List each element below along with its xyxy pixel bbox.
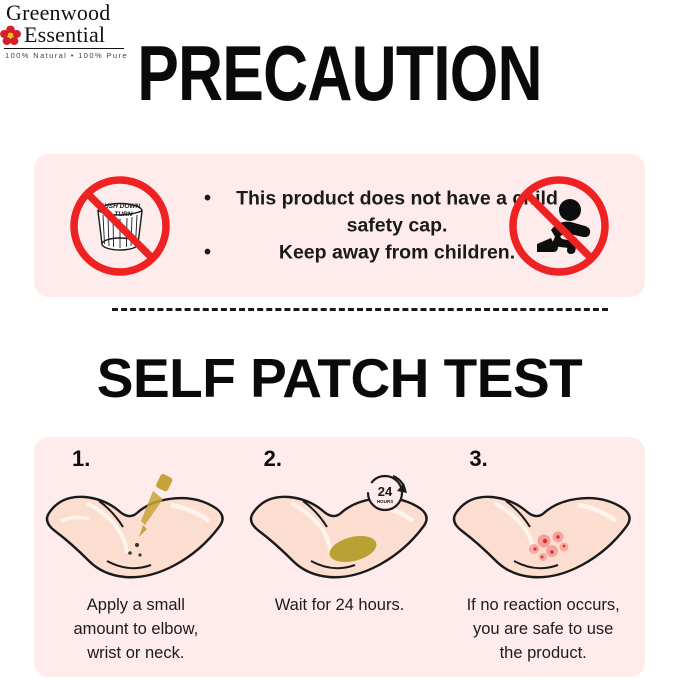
- elbow-with-dropper-icon: [34, 469, 238, 587]
- flower-icon: [0, 25, 21, 46]
- no-children-icon: [507, 174, 611, 278]
- page-title-self-patch-test: SELF PATCH TEST: [0, 349, 679, 407]
- bullet-icon: •: [204, 185, 230, 212]
- brand-name-line1: Greenwood: [0, 2, 126, 23]
- step-number: 2.: [264, 447, 282, 471]
- patch-test-step-1: 1.: [34, 437, 238, 677]
- step-number: 1.: [72, 447, 90, 471]
- patch-test-step-3: 3.: [441, 437, 645, 677]
- section-divider: [112, 308, 608, 311]
- page-title-precaution: PRECAUTION: [68, 34, 611, 112]
- bullet-icon: •: [204, 239, 230, 266]
- patch-test-step-2: 2. 24 HOURS: [238, 437, 442, 677]
- step-number: 3.: [469, 447, 487, 471]
- svg-text:HOURS: HOURS: [376, 499, 393, 504]
- step-caption: If no reaction occurs, you are safe to u…: [453, 593, 633, 665]
- step-caption: Apply a small amount to elbow, wrist or …: [46, 593, 226, 665]
- elbow-with-rash-icon: [441, 469, 645, 587]
- precaution-panel: PUSH DOWN & TURN • This product does not…: [34, 154, 645, 297]
- no-child-safety-cap-icon: PUSH DOWN & TURN: [68, 174, 172, 278]
- elbow-with-oil-patch-icon: 24 HOURS: [238, 469, 442, 587]
- step-caption: Wait for 24 hours.: [250, 593, 430, 617]
- svg-text:24: 24: [377, 484, 392, 499]
- self-patch-test-panel: 1.: [34, 437, 645, 677]
